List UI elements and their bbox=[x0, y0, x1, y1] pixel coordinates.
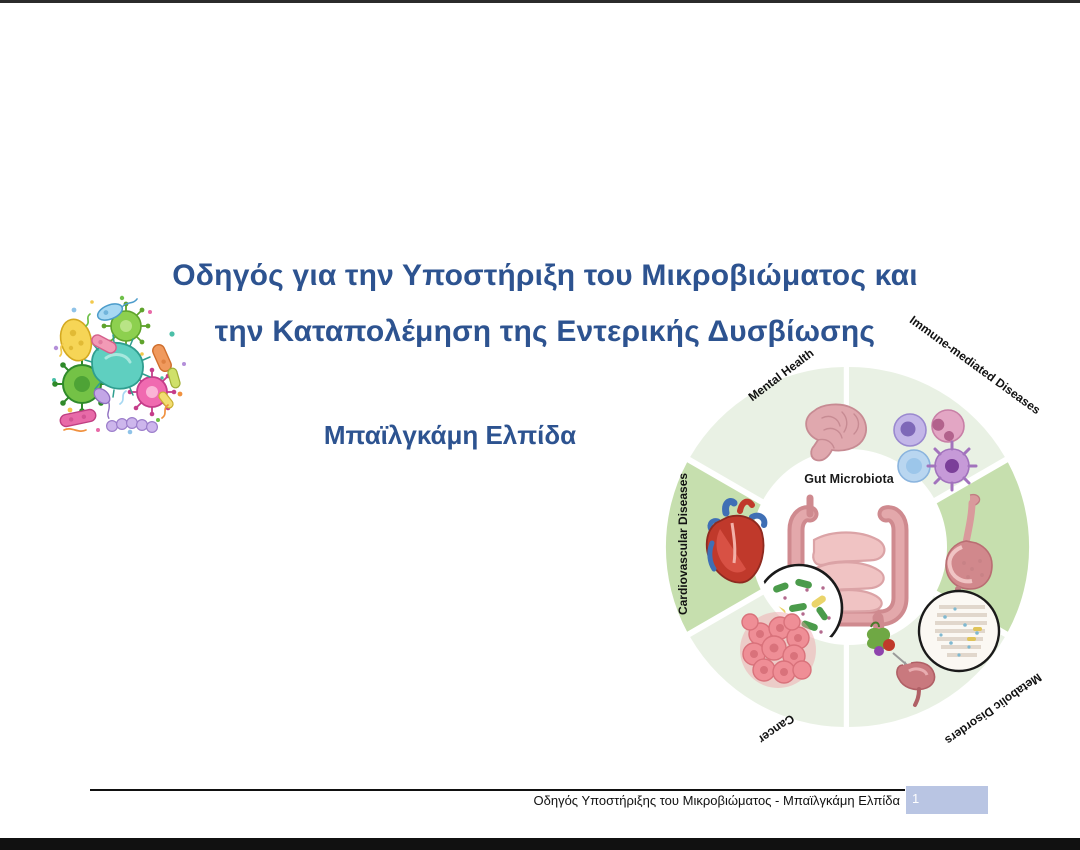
page-number: 1 bbox=[912, 791, 919, 806]
title-slide: Οδηγός για την Υποστήριξη του Μικροβιώμα… bbox=[0, 0, 1080, 850]
gut-microbiota-wheel: Gut Microbiota Mental Health Immune-medi… bbox=[628, 352, 1068, 772]
bottom-divider bbox=[0, 838, 1080, 850]
title-line-1: Οδηγός για την Υποστήριξη του Μικροβιώμα… bbox=[110, 248, 980, 304]
tumor-cells-icon bbox=[740, 612, 816, 688]
segment-label-cardiovascular-diseases: Cardiovascular Diseases bbox=[676, 473, 690, 615]
footer-text: Οδηγός Υποστήριξης του Μικροβιώματος - Μ… bbox=[400, 793, 900, 808]
donut-ring: Gut Microbiota Mental Health Immune-medi… bbox=[664, 362, 1034, 732]
top-divider bbox=[0, 0, 1080, 3]
slide-title: Οδηγός για την Υποστήριξη του Μικροβιώμα… bbox=[110, 248, 980, 360]
footer-divider bbox=[90, 789, 905, 791]
hub-label: Gut Microbiota bbox=[664, 472, 1034, 486]
